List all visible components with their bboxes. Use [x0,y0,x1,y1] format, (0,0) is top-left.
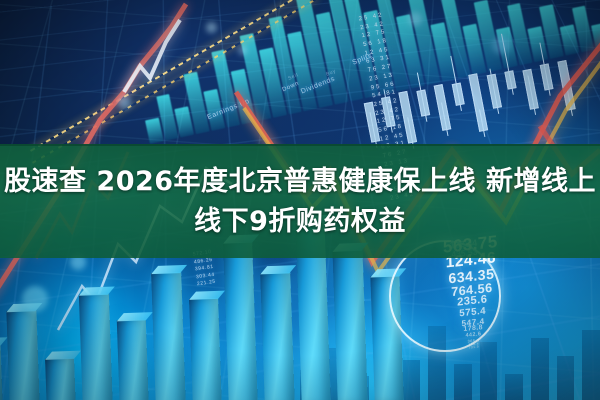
headline-line-2: 线下9折购药权益 [194,203,406,241]
headline-text: 股速查 2026年度北京普惠健康保上线 新增线上 线下9折购药权益 [0,150,600,254]
stock-market-banner-image: 25 4223 4212 7556 1812 4563 3176 2723 13… [0,0,600,400]
headline-line-1: 股速查 2026年度北京普惠健康保上线 新增线上 [4,163,596,201]
headline-band-edge [0,144,600,146]
